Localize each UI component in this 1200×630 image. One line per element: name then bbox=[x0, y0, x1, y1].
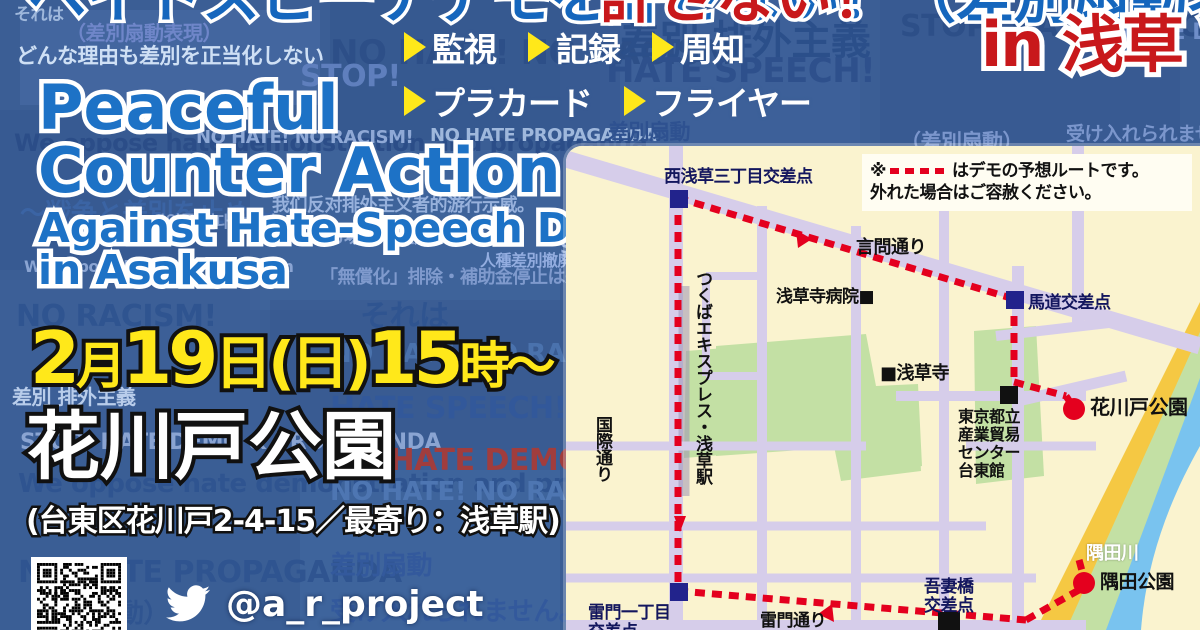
legend-text: はデモの予想ルートです。 bbox=[952, 161, 1148, 181]
triangle-right-icon bbox=[528, 32, 550, 62]
date-weekday: (日) bbox=[268, 329, 367, 397]
map-label-sumida-river: 隅田川 bbox=[1086, 544, 1139, 564]
event-address: (台東区花川戸2-4-15／最寄り：浅草駅) bbox=[26, 496, 560, 540]
map-label-umamichi: 馬道交差点 bbox=[1028, 294, 1111, 313]
map-label-sensoji: ■浅草寺 bbox=[880, 364, 949, 384]
event-date: 2月19日(日)15時～ bbox=[30, 322, 552, 394]
event-place: 花川戸公園 bbox=[26, 410, 396, 484]
date-day-unit: 日 bbox=[214, 329, 268, 397]
map-label-nishiasakusa: 西浅草三丁目交差点 bbox=[664, 168, 813, 187]
intersection-marker bbox=[1006, 291, 1024, 309]
bullet-shuchi: 周知 bbox=[652, 23, 744, 71]
title-line-1: Peaceful bbox=[38, 78, 678, 139]
bullet-label: 記録 bbox=[556, 23, 620, 71]
map-label-kokusai-dori: 国際通り bbox=[592, 416, 611, 526]
in-asakusa-badge: in 浅草 bbox=[981, 14, 1182, 76]
destination-marker bbox=[1073, 572, 1095, 594]
background-text: 差別扇動 bbox=[330, 552, 432, 582]
date-time-unit: 時～ bbox=[460, 337, 552, 395]
map-label-kaminarimon-dori: 雷門通り bbox=[760, 612, 826, 630]
twitter-handle: @a_r_project bbox=[226, 584, 484, 625]
date-month-unit: 月 bbox=[76, 337, 122, 395]
date-day: 19 bbox=[122, 316, 214, 400]
qr-code[interactable] bbox=[31, 557, 127, 630]
poi-marker bbox=[1000, 386, 1018, 404]
background-text: 受け入れられません。 bbox=[1066, 124, 1200, 146]
bullet-label: 周知 bbox=[680, 23, 744, 71]
date-time: 15 bbox=[367, 316, 459, 400]
twitter-bird-icon bbox=[164, 580, 212, 628]
map-label-sensoji-hospital: 浅草寺病院■ bbox=[776, 288, 874, 307]
map-label-tokyo-trade-center: 東京都立 産業貿易 センター 台東館 bbox=[958, 408, 1020, 480]
legend-asterisk: ※ bbox=[870, 161, 886, 181]
bullet-kanshi: 監視 bbox=[404, 23, 496, 71]
map-label-kototoi-dori: 言問通り bbox=[856, 238, 926, 258]
bullet-label: 監視 bbox=[432, 23, 496, 71]
background-text: どんな理由も差別を正当化しない bbox=[16, 44, 324, 68]
map-label-tx-asakusa-station: つくばエキスプレス・浅草駅 bbox=[692, 270, 711, 500]
legend-line-1: ※はデモの予想ルートです。 bbox=[870, 160, 1184, 182]
intersection-marker bbox=[670, 190, 688, 208]
bullet-row-1: 監視 記録 周知 bbox=[404, 26, 924, 68]
legend-line-2: 外れた場合はご容赦ください。 bbox=[870, 182, 1184, 204]
bullet-kiroku: 記録 bbox=[528, 23, 620, 71]
date-month: 2 bbox=[30, 316, 76, 400]
triangle-right-icon bbox=[404, 32, 426, 62]
map-label-azumabashi: 吾妻橋 交差点 bbox=[924, 578, 974, 616]
map-label-sumida-park: 隅田公園 bbox=[1100, 572, 1174, 593]
triangle-right-icon bbox=[652, 32, 674, 62]
twitter-account[interactable]: @a_r_project bbox=[164, 580, 484, 628]
destination-marker bbox=[1063, 398, 1085, 420]
map-label-hanakawado-park: 花川戸公園 bbox=[1090, 396, 1188, 418]
route-map[interactable]: ※はデモの予想ルートです。 外れた場合はご容赦ください。 西浅草三丁目交差点 言… bbox=[566, 146, 1200, 630]
intersection-marker bbox=[670, 583, 688, 601]
map-legend: ※はデモの予想ルートです。 外れた場合はご容赦ください。 bbox=[862, 154, 1192, 211]
map-label-kaminarimon-1chome: 雷門一丁目 交差点 bbox=[588, 604, 671, 630]
dashed-line-icon bbox=[890, 168, 948, 174]
